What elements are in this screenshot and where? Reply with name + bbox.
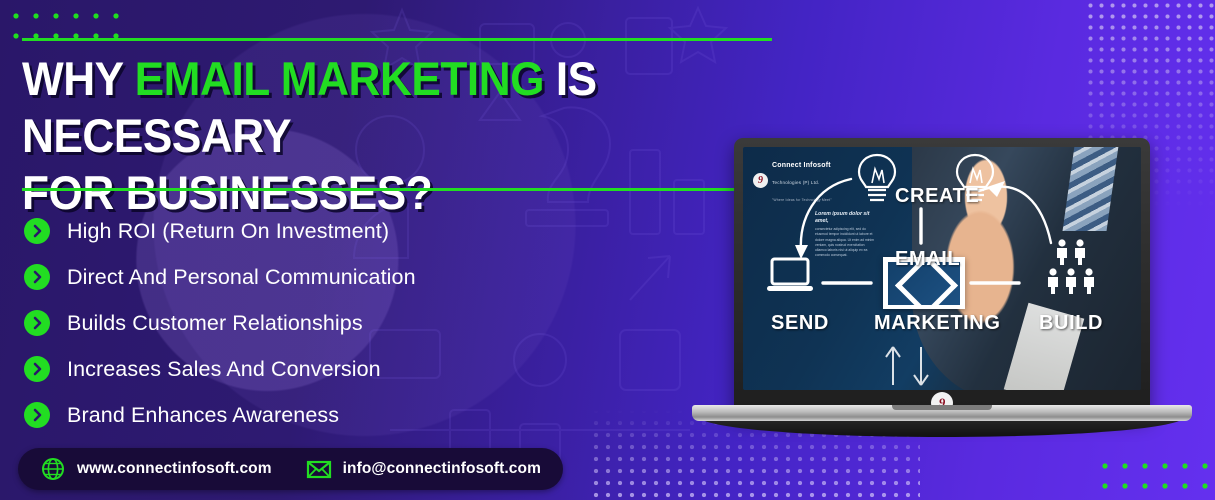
laptop-lid: 9 Connect Infosoft Technologies (P) Ltd.… (734, 138, 1150, 416)
website-contact[interactable]: www.connectinfosoft.com (40, 456, 272, 482)
lorem-body: consectetur adipiscing elit, sed do eius… (815, 227, 877, 259)
list-item: Brand Enhances Awareness (24, 392, 644, 438)
chevron-right-icon (24, 310, 50, 336)
necktie (1063, 147, 1120, 231)
list-item: Increases Sales And Conversion (24, 346, 644, 392)
list-item-label: High ROI (Return On Investment) (67, 219, 389, 244)
list-item-label: Brand Enhances Awareness (67, 403, 339, 428)
screen-label-marketing: MARKETING (874, 312, 1001, 335)
brand-subtitle: Technologies (P) Ltd. (772, 180, 819, 185)
screen-label-send: SEND (771, 312, 829, 335)
email-marketing-banner: WHY EMAIL MARKETING IS NECESSARY FOR BUS… (0, 0, 1215, 500)
send-laptop-icon (767, 257, 813, 293)
lorem-title: Lorem ipsum dolor sit amet, (815, 211, 877, 225)
envelope-icon (306, 456, 332, 482)
benefits-list: High ROI (Return On Investment) Direct A… (24, 208, 644, 438)
green-dot-grid-bottom-right (1095, 456, 1215, 496)
chevron-right-icon (24, 264, 50, 290)
email-label: info@connectinfosoft.com (343, 460, 541, 478)
divider-top (22, 38, 772, 41)
chevron-right-icon (24, 402, 50, 428)
laptop-illustration: 9 Connect Infosoft Technologies (P) Ltd.… (692, 138, 1192, 443)
brand-mark-icon: 9 (753, 173, 768, 188)
list-item: Direct And Personal Communication (24, 254, 644, 300)
screen-brand-logo: 9 Connect Infosoft Technologies (P) Ltd.… (753, 155, 832, 205)
website-label: www.connectinfosoft.com (77, 460, 272, 478)
brand-name: Connect Infosoft (772, 162, 831, 169)
divider-middle (22, 188, 762, 191)
list-item: Builds Customer Relationships (24, 300, 644, 346)
headline-highlight: EMAIL MARKETING (135, 52, 544, 105)
screen-label-create: CREATE (895, 185, 979, 208)
contact-bar: www.connectinfosoft.com info@connectinfo… (18, 448, 563, 490)
page-title: WHY EMAIL MARKETING IS NECESSARY FOR BUS… (22, 50, 736, 221)
email-contact[interactable]: info@connectinfosoft.com (306, 456, 541, 482)
globe-icon (40, 456, 66, 482)
laptop-base (692, 405, 1192, 421)
chevron-right-icon (24, 356, 50, 382)
list-item: High ROI (Return On Investment) (24, 208, 644, 254)
chevron-right-icon (24, 218, 50, 244)
list-item-label: Builds Customer Relationships (67, 311, 363, 336)
screen-label-email: EMAIL (895, 248, 960, 271)
screen-label-build: BUILD (1039, 312, 1103, 335)
people-group-icon (1041, 239, 1101, 294)
list-item-label: Direct And Personal Communication (67, 265, 416, 290)
lightbulb-icon (855, 153, 899, 209)
list-item-label: Increases Sales And Conversion (67, 357, 381, 382)
laptop-screen: 9 Connect Infosoft Technologies (P) Ltd.… (743, 147, 1141, 390)
headline-pre: WHY (22, 52, 135, 105)
lorem-text-block: Lorem ipsum dolor sit amet, consectetur … (815, 211, 877, 259)
brand-tagline: "Where Ideas for Technology Meet" (772, 198, 832, 202)
